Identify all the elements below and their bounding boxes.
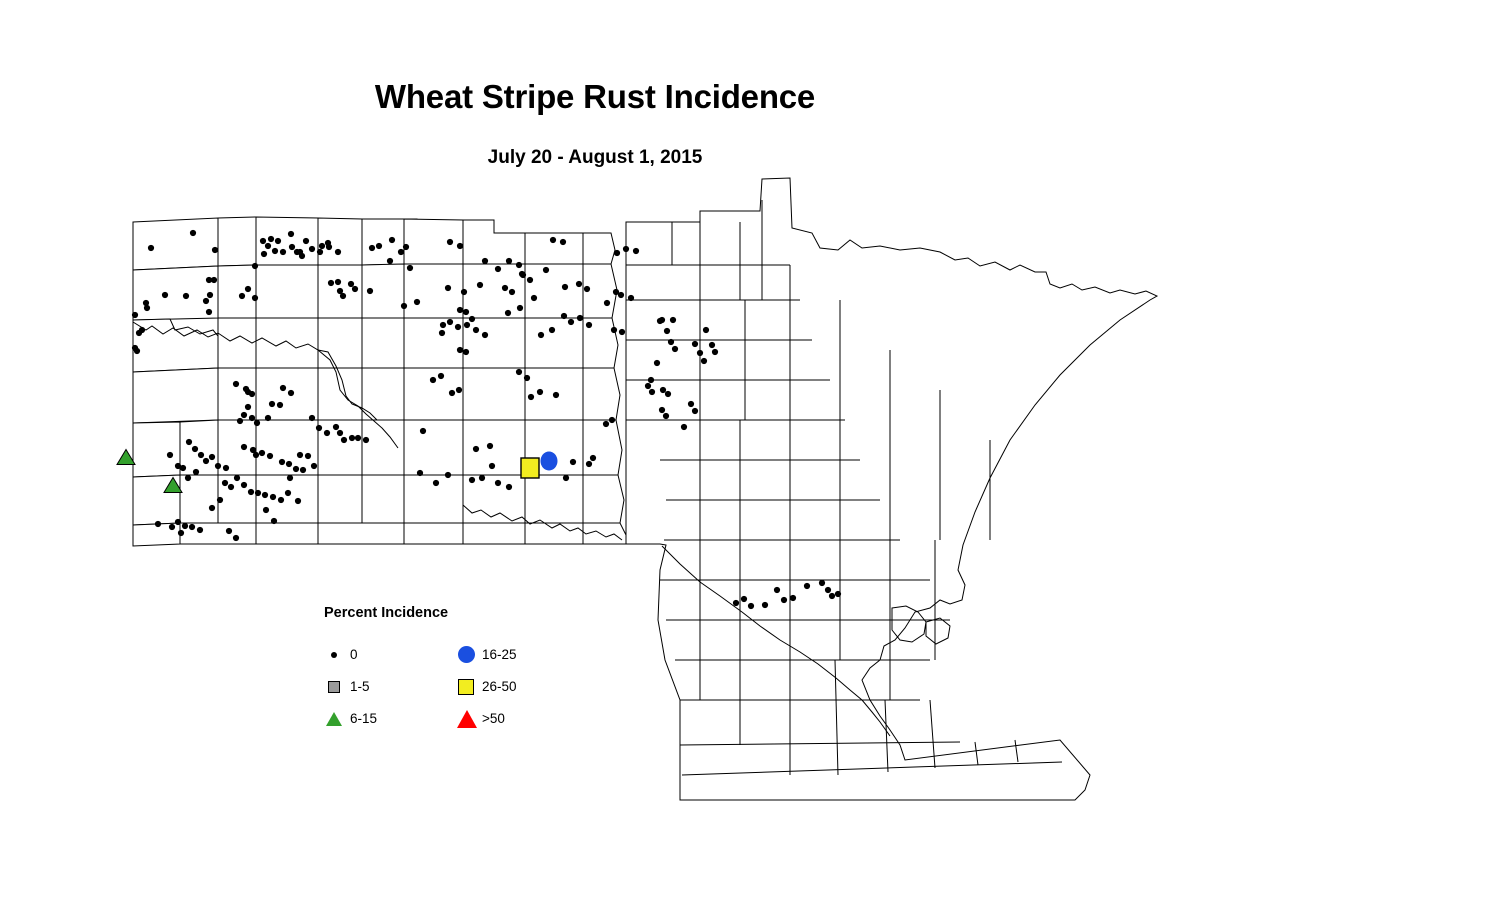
map-marker-0 (239, 293, 245, 299)
map-marker-0 (790, 595, 796, 601)
map-marker-0 (668, 339, 674, 345)
map-marker-0 (531, 295, 537, 301)
map-marker-0 (665, 391, 671, 397)
map-marker-0 (398, 249, 404, 255)
map-marker-0 (234, 475, 240, 481)
map-marker-0 (148, 245, 154, 251)
map-marker-0 (278, 497, 284, 503)
map-marker-0 (223, 465, 229, 471)
map-marker-0 (611, 327, 617, 333)
map-marker-0 (506, 484, 512, 490)
legend-label-6-15: 6-15 (350, 711, 377, 726)
map-marker-0 (568, 319, 574, 325)
map-marker-0 (447, 239, 453, 245)
map-marker-0 (603, 421, 609, 427)
map-marker-0 (825, 587, 831, 593)
map-marker-0 (657, 318, 663, 324)
map-marker-0 (829, 593, 835, 599)
map-marker-0 (609, 417, 615, 423)
map-marker-0 (144, 305, 150, 311)
map-marker-0 (439, 330, 445, 336)
map-marker-0 (182, 523, 188, 529)
map-marker-0 (401, 303, 407, 309)
map-marker-0 (192, 446, 198, 452)
map-marker-0 (203, 458, 209, 464)
map-marker-0 (762, 602, 768, 608)
map-marker-0 (697, 350, 703, 356)
grey-square-icon (324, 676, 346, 698)
map-marker-0 (804, 583, 810, 589)
map-marker-0 (586, 322, 592, 328)
map-marker-0 (664, 328, 670, 334)
map-marker-0 (590, 455, 596, 461)
map-marker-0 (482, 258, 488, 264)
map-marker-0 (167, 452, 173, 458)
map-marker-0 (319, 243, 325, 249)
map-marker-0 (222, 480, 228, 486)
map-marker-0 (670, 317, 676, 323)
map-page: Wheat Stripe Rust Incidence July 20 - Au… (0, 0, 1503, 900)
map-marker-0 (570, 459, 576, 465)
map-marker-0 (604, 300, 610, 306)
data-points-16-25 (541, 452, 558, 471)
map-marker-0 (712, 349, 718, 355)
map-marker-0 (464, 322, 470, 328)
legend-label-0: 0 (350, 647, 358, 662)
map-marker-0 (562, 284, 568, 290)
map-marker-0 (254, 420, 260, 426)
map-marker-0 (445, 285, 451, 291)
legend-label-1-5: 1-5 (350, 679, 370, 694)
map-marker-0 (376, 243, 382, 249)
map-marker-0 (502, 285, 508, 291)
map-marker-0 (189, 524, 195, 530)
map-marker-0 (618, 292, 624, 298)
map-marker-0 (269, 401, 275, 407)
map-marker-0 (241, 444, 247, 450)
map-marker-0 (623, 246, 629, 252)
map-marker-0 (550, 237, 556, 243)
map-marker-0 (463, 309, 469, 315)
map-marker-0 (619, 329, 625, 335)
map-marker-0 (309, 415, 315, 421)
map-marker-0 (672, 346, 678, 352)
map-marker-0 (275, 238, 281, 244)
map-marker-0 (549, 327, 555, 333)
map-marker-0 (482, 332, 488, 338)
map-marker-0 (586, 461, 592, 467)
blue-circle-icon (456, 644, 478, 666)
map-marker-0 (709, 342, 715, 348)
map-marker-0 (185, 475, 191, 481)
map-marker-0 (660, 387, 666, 393)
map-marker-0 (309, 246, 315, 252)
map-marker-0 (252, 295, 258, 301)
map-marker-0 (341, 437, 347, 443)
map-marker-0 (255, 490, 261, 496)
map-marker-0 (169, 524, 175, 530)
map-marker-0 (249, 415, 255, 421)
map-marker-0 (389, 237, 395, 243)
map-marker-0 (193, 469, 199, 475)
map-marker-0 (449, 390, 455, 396)
map-marker-0 (352, 286, 358, 292)
map-marker-0 (262, 492, 268, 498)
map-marker-0 (328, 280, 334, 286)
map-marker-0 (487, 443, 493, 449)
map-marker-0 (445, 472, 451, 478)
map-marker-0 (506, 258, 512, 264)
map-marker-0 (180, 465, 186, 471)
map-marker-0 (241, 482, 247, 488)
map-marker-0 (209, 505, 215, 511)
map-marker-0 (268, 236, 274, 242)
map-marker-0 (387, 258, 393, 264)
map-marker-0 (584, 286, 590, 292)
map-marker-0 (325, 240, 331, 246)
map-marker-0 (226, 528, 232, 534)
map-marker-0 (263, 507, 269, 513)
map-marker-0 (628, 295, 634, 301)
map-marker-0 (748, 603, 754, 609)
map-marker-0 (403, 244, 409, 250)
map-marker-0 (703, 327, 709, 333)
map-marker-0 (280, 249, 286, 255)
map-marker-0 (272, 248, 278, 254)
map-marker-0 (538, 332, 544, 338)
map-marker-0 (340, 293, 346, 299)
map-marker-0 (259, 450, 265, 456)
map-marker-0 (295, 498, 301, 504)
map-marker-0 (516, 262, 522, 268)
legend-label-above-50: >50 (482, 711, 505, 726)
map-marker-0 (212, 247, 218, 253)
map-marker-0 (479, 475, 485, 481)
map-marker-0 (132, 312, 138, 318)
map-marker-0 (241, 412, 247, 418)
map-marker-0 (461, 289, 467, 295)
map-marker-0 (528, 394, 534, 400)
map-marker-0 (297, 452, 303, 458)
map-marker-0 (288, 390, 294, 396)
map-marker-0 (186, 439, 192, 445)
map-marker-0 (207, 292, 213, 298)
map-marker-0 (527, 277, 533, 283)
map-marker-0 (162, 292, 168, 298)
map-marker-0 (692, 408, 698, 414)
minnesota-counties (626, 178, 1157, 800)
map-marker-0 (524, 375, 530, 381)
map-marker-0 (614, 250, 620, 256)
map-marker-0 (134, 348, 140, 354)
data-points-26-50 (521, 458, 539, 478)
map-marker-0 (253, 452, 259, 458)
map-marker-0 (367, 288, 373, 294)
map-marker-0 (457, 347, 463, 353)
map-marker-0 (316, 425, 322, 431)
north-dakota-counties (133, 217, 626, 546)
map-marker-0 (438, 373, 444, 379)
map-marker-0 (233, 381, 239, 387)
map-marker-0 (774, 587, 780, 593)
map-marker-0 (553, 392, 559, 398)
map-marker-0 (198, 452, 204, 458)
map-marker-0 (543, 267, 549, 273)
map-marker-0 (305, 453, 311, 459)
map-marker-0 (407, 265, 413, 271)
map-marker-0 (469, 477, 475, 483)
map-marker-0 (211, 277, 217, 283)
map-marker-0 (197, 527, 203, 533)
map-marker-0 (519, 271, 525, 277)
map-marker-0 (252, 263, 258, 269)
map-marker-0 (286, 461, 292, 467)
map-marker-0 (473, 327, 479, 333)
map-canvas (0, 0, 1503, 900)
map-marker-0 (248, 489, 254, 495)
map-marker-0 (645, 383, 651, 389)
map-marker-0 (701, 358, 707, 364)
map-marker-0 (249, 391, 255, 397)
map-marker-0 (561, 313, 567, 319)
legend-label-26-50: 26-50 (482, 679, 517, 694)
map-marker-0 (178, 530, 184, 536)
map-marker-0 (456, 387, 462, 393)
map-marker-0 (648, 377, 654, 383)
map-marker-0 (324, 430, 330, 436)
map-marker-0 (649, 389, 655, 395)
map-marker-0 (741, 596, 747, 602)
map-marker-0 (663, 413, 669, 419)
map-marker-0 (577, 315, 583, 321)
map-marker-0 (155, 521, 161, 527)
map-marker-0 (516, 369, 522, 375)
map-marker-0 (233, 535, 239, 541)
map-marker-0 (440, 322, 446, 328)
map-marker-0 (288, 231, 294, 237)
map-marker-0 (455, 324, 461, 330)
map-marker-0 (271, 518, 277, 524)
map-marker-16-25 (541, 452, 558, 471)
map-marker-6-15 (117, 450, 135, 465)
map-marker-0 (819, 580, 825, 586)
map-marker-0 (183, 293, 189, 299)
map-marker-0 (228, 484, 234, 490)
map-marker-0 (333, 424, 339, 430)
map-marker-0 (300, 467, 306, 473)
map-marker-0 (285, 490, 291, 496)
map-marker-0 (303, 238, 309, 244)
map-marker-0 (206, 309, 212, 315)
map-marker-0 (692, 341, 698, 347)
map-marker-26-50 (521, 458, 539, 478)
map-marker-0 (420, 428, 426, 434)
map-marker-0 (237, 418, 243, 424)
map-marker-0 (280, 385, 286, 391)
red-triangle-icon (456, 708, 478, 730)
map-marker-0 (489, 463, 495, 469)
map-marker-0 (517, 305, 523, 311)
green-triangle-icon (324, 708, 346, 730)
map-marker-0 (190, 230, 196, 236)
map-marker-0 (261, 251, 267, 257)
legend: Percent Incidence 0 1-5 6-15 16-25 26-50… (320, 602, 550, 737)
map-marker-0 (245, 286, 251, 292)
map-marker-0 (277, 402, 283, 408)
map-marker-0 (203, 298, 209, 304)
map-marker-0 (495, 480, 501, 486)
map-marker-0 (563, 475, 569, 481)
map-marker-0 (311, 463, 317, 469)
map-marker-0 (260, 238, 266, 244)
map-marker-0 (337, 430, 343, 436)
map-marker-0 (270, 494, 276, 500)
map-marker-0 (469, 316, 475, 322)
map-marker-0 (463, 349, 469, 355)
yellow-square-icon (456, 676, 478, 698)
map-marker-0 (414, 299, 420, 305)
map-marker-0 (781, 597, 787, 603)
map-marker-0 (335, 249, 341, 255)
map-marker-0 (537, 389, 543, 395)
map-marker-0 (654, 360, 660, 366)
map-marker-0 (293, 466, 299, 472)
map-marker-0 (363, 437, 369, 443)
map-marker-0 (633, 248, 639, 254)
map-marker-0 (209, 454, 215, 460)
map-marker-0 (473, 446, 479, 452)
map-marker-0 (217, 497, 223, 503)
map-marker-0 (417, 470, 423, 476)
map-marker-0 (576, 281, 582, 287)
map-marker-0 (457, 307, 463, 313)
map-marker-0 (136, 330, 142, 336)
map-marker-0 (447, 319, 453, 325)
map-marker-0 (317, 249, 323, 255)
map-marker-0 (688, 401, 694, 407)
map-marker-0 (289, 244, 295, 250)
legend-label-16-25: 16-25 (482, 647, 517, 662)
map-marker-0 (245, 404, 251, 410)
map-marker-0 (509, 289, 515, 295)
map-marker-0 (349, 435, 355, 441)
map-marker-0 (477, 282, 483, 288)
map-marker-0 (433, 480, 439, 486)
map-marker-0 (299, 253, 305, 259)
map-marker-0 (369, 245, 375, 251)
map-marker-0 (430, 377, 436, 383)
map-marker-0 (835, 591, 841, 597)
map-marker-0 (175, 519, 181, 525)
map-marker-0 (457, 243, 463, 249)
map-marker-0 (279, 459, 285, 465)
map-marker-0 (335, 279, 341, 285)
map-marker-0 (267, 453, 273, 459)
legend-title: Percent Incidence (324, 605, 448, 621)
map-marker-0 (495, 266, 501, 272)
map-marker-0 (659, 407, 665, 413)
map-marker-0 (287, 475, 293, 481)
map-marker-0 (265, 243, 271, 249)
map-marker-0 (733, 600, 739, 606)
map-marker-0 (505, 310, 511, 316)
map-marker-0 (265, 415, 271, 421)
map-marker-0 (355, 435, 361, 441)
states-map-svg (0, 0, 1503, 900)
small-black-dot-icon (324, 644, 346, 666)
map-marker-0 (560, 239, 566, 245)
map-marker-0 (215, 463, 221, 469)
map-marker-0 (681, 424, 687, 430)
map-marker-0 (348, 281, 354, 287)
